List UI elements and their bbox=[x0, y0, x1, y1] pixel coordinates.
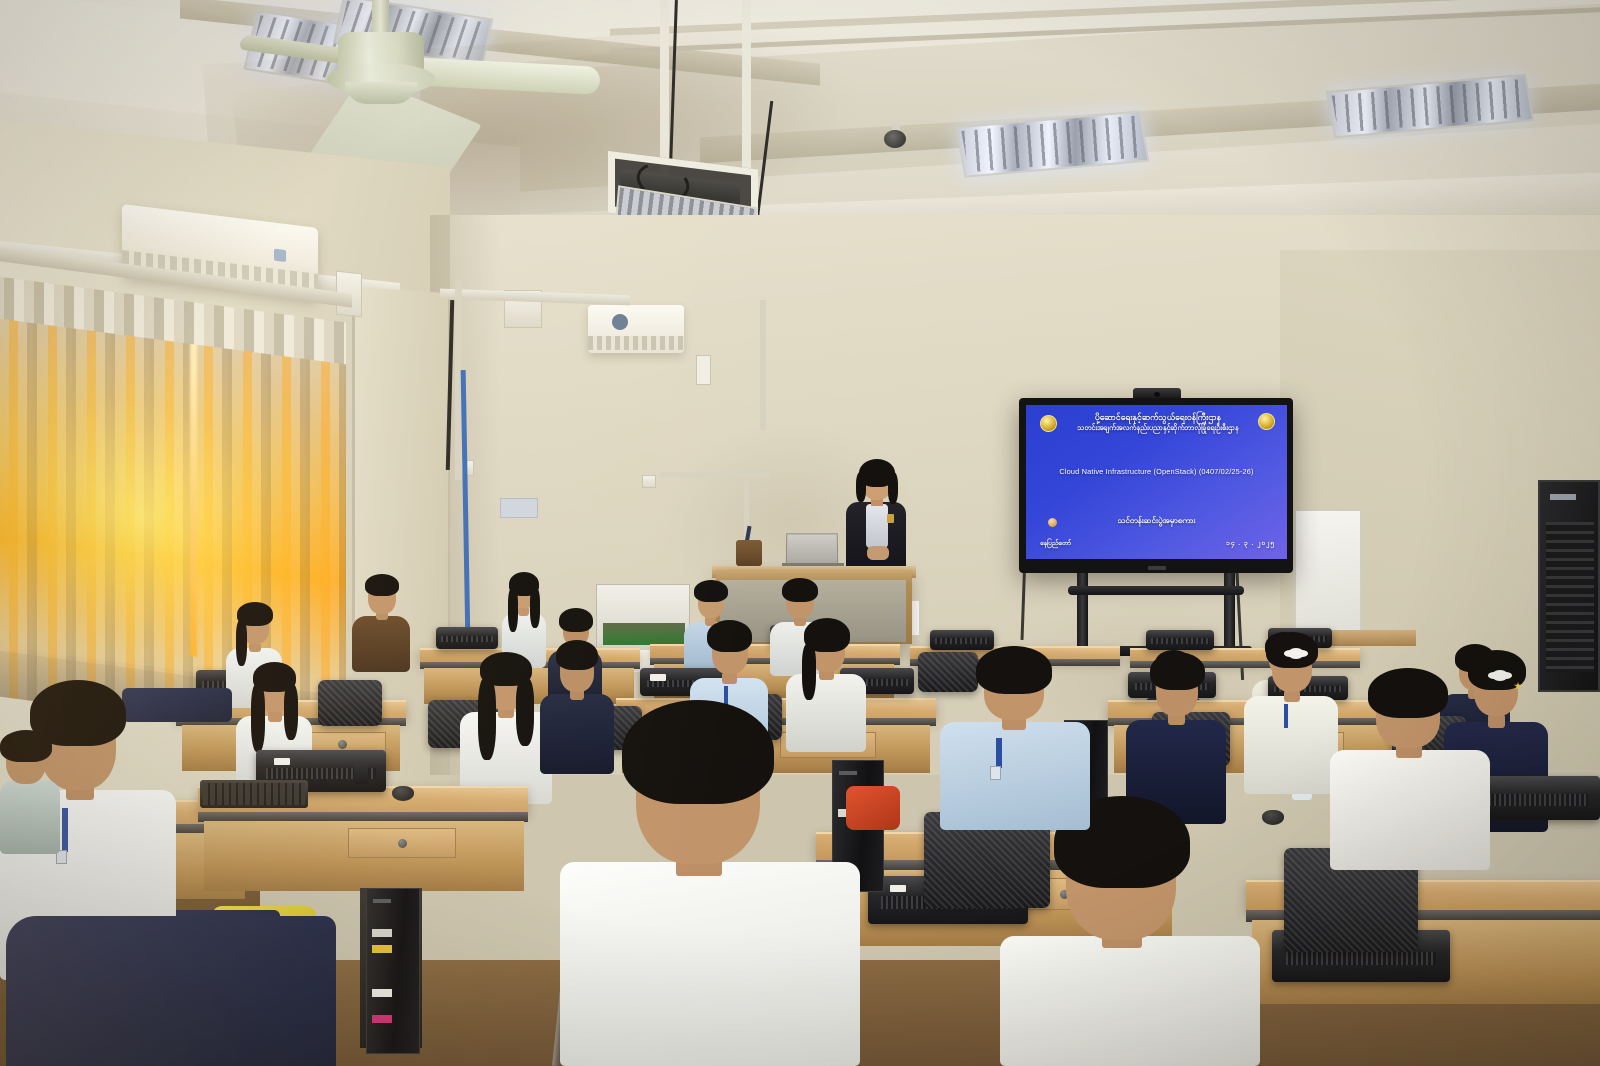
wall-conduit bbox=[760, 300, 766, 430]
presenter-hands bbox=[867, 546, 889, 560]
attendee-uniform bbox=[352, 572, 410, 670]
lanyard bbox=[62, 808, 68, 852]
paper-tray bbox=[603, 623, 685, 645]
ac-badge-icon bbox=[612, 314, 628, 330]
mouse[interactable] bbox=[392, 786, 414, 801]
monitor-stand bbox=[354, 762, 368, 784]
ceiling-camera-icon bbox=[884, 130, 906, 148]
monitor bbox=[436, 627, 498, 649]
projector-hanger bbox=[660, 0, 669, 180]
attendee bbox=[940, 646, 1090, 826]
attendee-front-center bbox=[560, 700, 860, 1066]
attendee bbox=[0, 730, 60, 850]
ministry-seal-icon bbox=[1040, 415, 1057, 432]
whiteboard bbox=[1294, 509, 1362, 639]
presenter-hair bbox=[888, 472, 898, 504]
attendee bbox=[1330, 668, 1490, 868]
slide-heading-line2: သတင်းအချက်အလက်နည်းပညာနှင့်ဆိုက်ဘာလုံခြုံ… bbox=[1056, 423, 1260, 433]
presentation-display[interactable]: ပို့ဆောင်ရေးနှင့်ဆက်သွယ်ရေးဝန်ကြီးဌာန သတ… bbox=[1019, 398, 1293, 573]
attendee bbox=[460, 650, 552, 800]
ceiling-fan-cap bbox=[345, 82, 417, 104]
slide-footer-date: ၁၄ . ၃ . ၂၀၂၅ bbox=[1226, 539, 1275, 549]
ac-vent bbox=[588, 336, 684, 350]
classroom-scene: ပို့ဆောင်ရေးနှင့်ဆက်သွယ်ရေးဝန်ကြီးဌာန သတ… bbox=[0, 0, 1600, 1066]
hair-bow bbox=[1288, 648, 1304, 659]
wall-socket[interactable] bbox=[642, 475, 656, 488]
curtain-gap bbox=[190, 326, 197, 657]
mouse[interactable] bbox=[1262, 810, 1284, 825]
rack-label bbox=[1550, 494, 1576, 500]
slide-course-title: Cloud Native Infrastructure (OpenStack) … bbox=[1026, 467, 1287, 476]
attendee bbox=[1244, 630, 1338, 790]
lanyard bbox=[996, 738, 1002, 768]
cpu-tower bbox=[366, 888, 420, 1054]
longyi bbox=[6, 916, 336, 1066]
sunlight-glow bbox=[0, 316, 346, 692]
monitor bbox=[1146, 630, 1214, 650]
slide-heading: ပို့ဆောင်ရေးနှင့်ဆက်သွယ်ရေးဝန်ကြီးဌာန သတ… bbox=[1056, 412, 1260, 433]
id-badge bbox=[990, 766, 1001, 780]
department-seal-icon bbox=[1258, 413, 1275, 430]
tv-stand-crossbar bbox=[1068, 586, 1244, 595]
presenter-blouse bbox=[866, 504, 888, 548]
presenter-hair bbox=[856, 472, 866, 502]
tv-stand-post bbox=[1224, 573, 1235, 651]
slide-bullet-icon bbox=[1048, 518, 1057, 527]
attendee-front-right bbox=[1000, 796, 1260, 1066]
tv-stand-post bbox=[1077, 573, 1088, 651]
hair-bow bbox=[1492, 670, 1508, 681]
slide-footer-location: နေပြည်တော် bbox=[1040, 539, 1071, 549]
presenter-laptop[interactable] bbox=[786, 533, 839, 567]
slide-screen: ပို့ဆောင်ရေးနှင့်ဆက်သွယ်ရေးဝန်ကြီးဌာန သတ… bbox=[1026, 405, 1287, 559]
keyboard[interactable] bbox=[200, 780, 308, 808]
wall-ac-back bbox=[588, 305, 684, 353]
slide-heading-line1: ပို့ဆောင်ရေးနှင့်ဆက်သွယ်ရေးဝန်ကြီးဌာန bbox=[1056, 412, 1260, 423]
desk-organizer bbox=[736, 540, 762, 566]
ac-remote-holder[interactable] bbox=[696, 355, 711, 385]
lanyard bbox=[1284, 704, 1288, 728]
presenter-badge bbox=[887, 514, 894, 523]
wall-conduit bbox=[660, 472, 770, 478]
tv-brand-logo bbox=[1148, 566, 1166, 570]
attendee bbox=[1126, 650, 1226, 820]
slide-subtitle: သင်တန်းဆင်းပွဲအမှာစကား bbox=[1026, 515, 1287, 527]
wall-plate bbox=[500, 498, 538, 518]
chair bbox=[318, 680, 382, 726]
ac-led-icon bbox=[274, 249, 286, 262]
rack-vents bbox=[1546, 522, 1594, 672]
